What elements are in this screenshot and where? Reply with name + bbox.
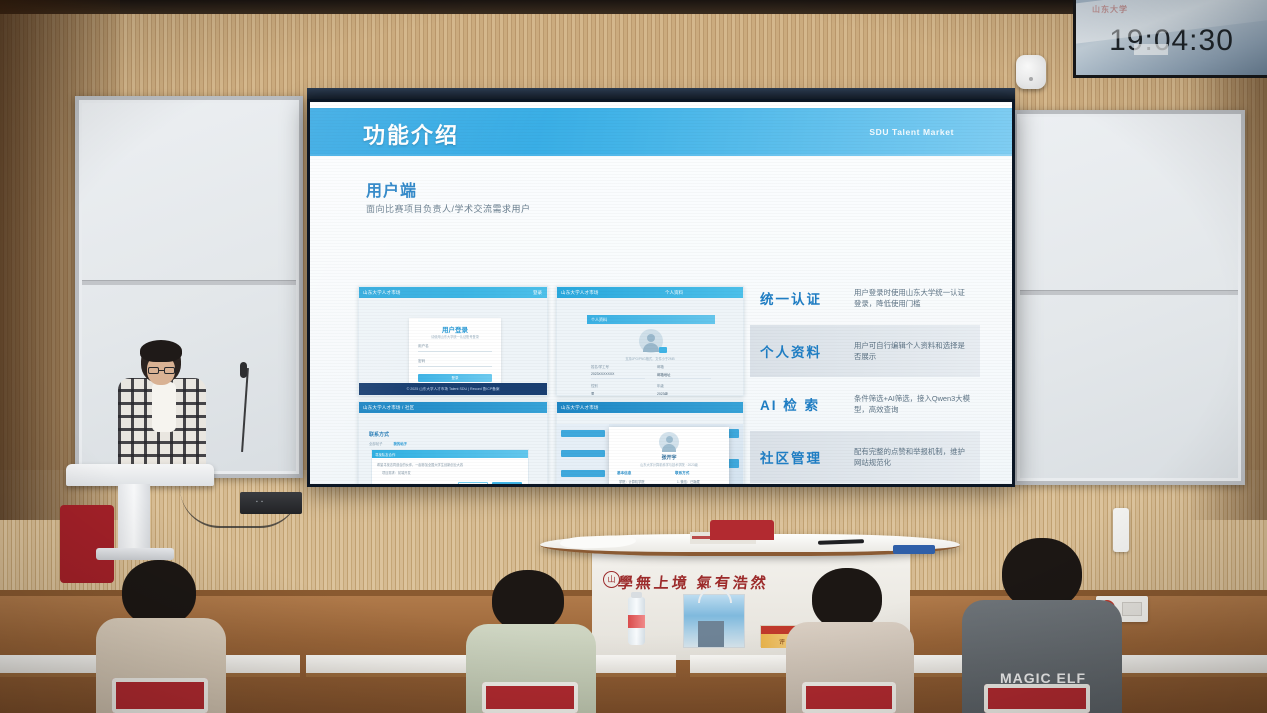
login-username-label: 用户名 bbox=[418, 344, 429, 349]
community-tab-all[interactable]: 全部帖子 bbox=[369, 442, 383, 446]
projection-screen: 功能介绍 SDU Talent Market 用户端 面向比赛项目负责人/学术交… bbox=[307, 99, 1015, 487]
section-subtitle: 面向比赛项目负责人/学术交流需求用户 bbox=[366, 202, 531, 215]
presenter-hair bbox=[140, 340, 182, 362]
profile-panel-title: 个人资料 bbox=[591, 317, 607, 323]
thumb-canvas: 个人资料 支持JPG/PNG格式，文件小于2MB 姓名/学工号 2023XXXX… bbox=[557, 298, 743, 395]
promo-tote-bag bbox=[683, 594, 745, 648]
profile-panel-header: 个人资料 bbox=[587, 315, 715, 324]
folder-on-desk bbox=[893, 545, 935, 554]
post-contact-button[interactable] bbox=[492, 482, 522, 484]
thumb-navbar: 山东大学人才市场 个人资料 bbox=[557, 287, 743, 298]
av-control-unit[interactable]: ▪ ▪ bbox=[240, 492, 302, 514]
presenter-shirt bbox=[152, 382, 176, 432]
thumb-navbar: 山东大学人才市场 / 社区 bbox=[359, 402, 547, 413]
login-submit-button[interactable]: 登录 bbox=[418, 374, 492, 382]
thumb-navbar-action: 登录 bbox=[533, 290, 542, 296]
feature-list: 统一认证 用户登录时使用山东大学统一认证登录，降低使用门槛 个人资料 用户可自行… bbox=[750, 272, 980, 484]
profile-detail-modal: 张开宇 山东大学计算机科学与技术学院 · 2023级 基本信息 学院：计算机学院… bbox=[609, 427, 729, 484]
clock-glare-band bbox=[1134, 44, 1168, 55]
feature-desc: 用户可自行编辑个人资料和选择是否展示 bbox=[854, 340, 972, 363]
modal-left-column bbox=[557, 424, 609, 484]
thumbnail-detail-modal: 山东大学人才市场 bbox=[556, 401, 744, 484]
post-card-body: 希望寻找志同道合的伙伴，一起参加全国大学生创新创业大赛 bbox=[377, 462, 463, 467]
profile-field-label: 邮箱 bbox=[657, 364, 664, 369]
section-title: 用户端 bbox=[366, 177, 417, 201]
feature-name: 统一认证 bbox=[760, 288, 844, 308]
post-detail-button[interactable] bbox=[458, 482, 488, 484]
feature-name: AI 检 索 bbox=[760, 394, 844, 414]
podium-base bbox=[96, 548, 174, 560]
thumbnail-login-page: 山东大学人才市场 登录 用户登录 请使用山东大学统一认证账号登录 用户名 密码 bbox=[358, 286, 548, 396]
thumb-footer-text: © 2025 山东大学人才市场 Talent SDU | Record 鲁ICP… bbox=[359, 387, 547, 392]
detail-basic-item: 学院：计算机学院 bbox=[619, 479, 645, 484]
feature-name: 社区管理 bbox=[760, 447, 844, 467]
thumb-navbar-title: 山东大学人才市场 bbox=[561, 405, 599, 411]
detail-contact-item: 1. 微信：已隐藏 bbox=[677, 479, 700, 484]
avatar-upload-icon[interactable] bbox=[659, 347, 667, 353]
feature-desc: 条件筛选+AI筛选，接入Qwen3大模型，高效查询 bbox=[854, 393, 972, 416]
detail-subtitle: 山东大学计算机科学与技术学院 · 2023级 bbox=[609, 462, 729, 467]
profile-field-value: 男 bbox=[591, 391, 594, 396]
thumb-navbar-title: 山东大学人才市场 bbox=[561, 290, 599, 296]
profile-field-label: 姓名/学工号 bbox=[591, 364, 609, 369]
slide-brand-label: SDU Talent Market bbox=[869, 127, 954, 137]
slide-body: 用户端 面向比赛项目负责人/学术交流需求用户 山东大学人才市场 登录 用户登录 bbox=[310, 156, 1012, 484]
thumb-canvas: 联系方式 全部帖子 我的帖子 寻找队友合作 希望寻找志同道合的伙伴，一起参加全国… bbox=[359, 413, 547, 484]
thumb-navbar-title: 山东大学人才市场 / 社区 bbox=[363, 405, 414, 411]
community-tabs[interactable]: 全部帖子 我的帖子 bbox=[369, 441, 407, 446]
av-control-label: ▪ ▪ bbox=[256, 499, 264, 505]
detail-basic-heading: 基本信息 bbox=[617, 471, 631, 476]
feature-row-profile: 个人资料 用户可自行编辑个人资料和选择是否展示 bbox=[750, 325, 980, 377]
avatar bbox=[659, 432, 679, 452]
profile-field-value: 邮箱地址 bbox=[657, 372, 671, 377]
glasses-icon bbox=[148, 367, 175, 374]
thumb-canvas: 用户登录 请使用山东大学统一认证账号登录 用户名 密码 登录 bbox=[359, 298, 547, 395]
login-password-label: 密码 bbox=[418, 359, 425, 364]
presentation-slide: 功能介绍 SDU Talent Market 用户端 面向比赛项目负责人/学术交… bbox=[310, 102, 1012, 484]
thumb-navbar-title: 山东大学人才市场 bbox=[363, 290, 401, 296]
community-tab-mine[interactable]: 我的帖子 bbox=[394, 442, 408, 446]
detail-name: 张开宇 bbox=[609, 454, 729, 461]
post-card[interactable]: 寻找队友合作 希望寻找志同道合的伙伴，一起参加全国大学生创新创业大赛 项目需求：… bbox=[371, 449, 529, 484]
login-card: 用户登录 请使用山东大学统一认证账号登录 用户名 密码 登录 bbox=[409, 318, 501, 390]
whiteboard-right bbox=[1013, 110, 1245, 485]
water-bottle bbox=[628, 597, 645, 645]
detail-contact-heading: 联系方式 bbox=[675, 471, 689, 476]
feature-desc: 用户登录时使用山东大学统一认证登录，降低使用门槛 bbox=[854, 287, 972, 310]
thumb-navbar: 山东大学人才市场 bbox=[557, 402, 743, 413]
login-submit-label: 登录 bbox=[418, 376, 492, 381]
lecture-hall-scene: 山东大学 19:04:30 功能介绍 SDU Talent Market 用户端… bbox=[0, 0, 1267, 713]
thumb-footer-bar: © 2025 山东大学人才市场 Talent SDU | Record 鲁ICP… bbox=[359, 383, 547, 395]
feature-desc: 配有完整的点赞和举报机制，维护网站规范化 bbox=[854, 446, 972, 469]
profile-field-value: 2023级 bbox=[657, 391, 668, 396]
slide-header-band: 功能介绍 SDU Talent Market bbox=[310, 108, 1012, 156]
desk-motto-banner: 學無上境 氣有浩然 bbox=[617, 572, 770, 593]
judge-chair bbox=[710, 520, 774, 540]
wifi-access-point-icon bbox=[1016, 55, 1046, 89]
feature-name: 个人资料 bbox=[760, 341, 844, 361]
profile-field-label: 性别 bbox=[591, 383, 598, 388]
podium-column bbox=[118, 484, 150, 552]
profile-field-label: 年级 bbox=[657, 383, 664, 388]
audience-member-3 bbox=[786, 568, 914, 713]
login-password-input[interactable] bbox=[418, 366, 492, 367]
slide-title: 功能介绍 bbox=[363, 118, 459, 150]
thumb-navbar: 山东大学人才市场 登录 bbox=[359, 287, 547, 298]
thumbnail-profile-page: 山东大学人才市场 个人资料 个人资料 支持JPG/PNG格式，文件小于2MB 姓… bbox=[556, 286, 744, 396]
power-socket-icon bbox=[1122, 602, 1142, 616]
feature-row-unified-auth: 统一认证 用户登录时使用山东大学统一认证登录，降低使用门槛 bbox=[750, 272, 980, 324]
profile-field-value: 2023XXXXXXX bbox=[591, 372, 614, 376]
post-card-header: 寻找队友合作 bbox=[372, 450, 528, 458]
podium-surface bbox=[66, 464, 214, 486]
post-card-sub: 项目需求：前端开发 bbox=[382, 470, 411, 475]
login-card-title: 用户登录 bbox=[409, 324, 501, 334]
thumb-canvas: 张开宇 山东大学计算机科学与技术学院 · 2023级 基本信息 学院：计算机学院… bbox=[557, 413, 743, 484]
audience-member-1 bbox=[96, 560, 226, 713]
feature-row-community: 社区管理 配有完整的点赞和举报机制，维护网站规范化 bbox=[750, 431, 980, 483]
wall-tv-clock: 山东大学 19:04:30 bbox=[1073, 0, 1267, 78]
audience-member-4: MAGIC ELF bbox=[962, 538, 1122, 713]
audience-member-2 bbox=[466, 570, 596, 713]
thumb-navbar-tab[interactable]: 个人资料 bbox=[665, 290, 683, 296]
post-card-title: 寻找队友合作 bbox=[375, 452, 395, 457]
screenshot-gallery: 山东大学人才市场 登录 用户登录 请使用山东大学统一认证账号登录 用户名 密码 bbox=[358, 286, 746, 484]
login-card-hint: 请使用山东大学统一认证账号登录 bbox=[409, 334, 501, 339]
avatar-hint: 支持JPG/PNG格式，文件小于2MB bbox=[557, 356, 743, 361]
thumbnail-community-page: 山东大学人才市场 / 社区 联系方式 全部帖子 我的帖子 寻找队友合作 bbox=[358, 401, 548, 484]
microphone-icon bbox=[240, 362, 247, 378]
feature-row-ai-search: AI 检 索 条件筛选+AI筛选，接入Qwen3大模型，高效查询 bbox=[750, 378, 980, 430]
community-title: 联系方式 bbox=[369, 431, 389, 438]
login-username-input[interactable] bbox=[418, 351, 492, 352]
